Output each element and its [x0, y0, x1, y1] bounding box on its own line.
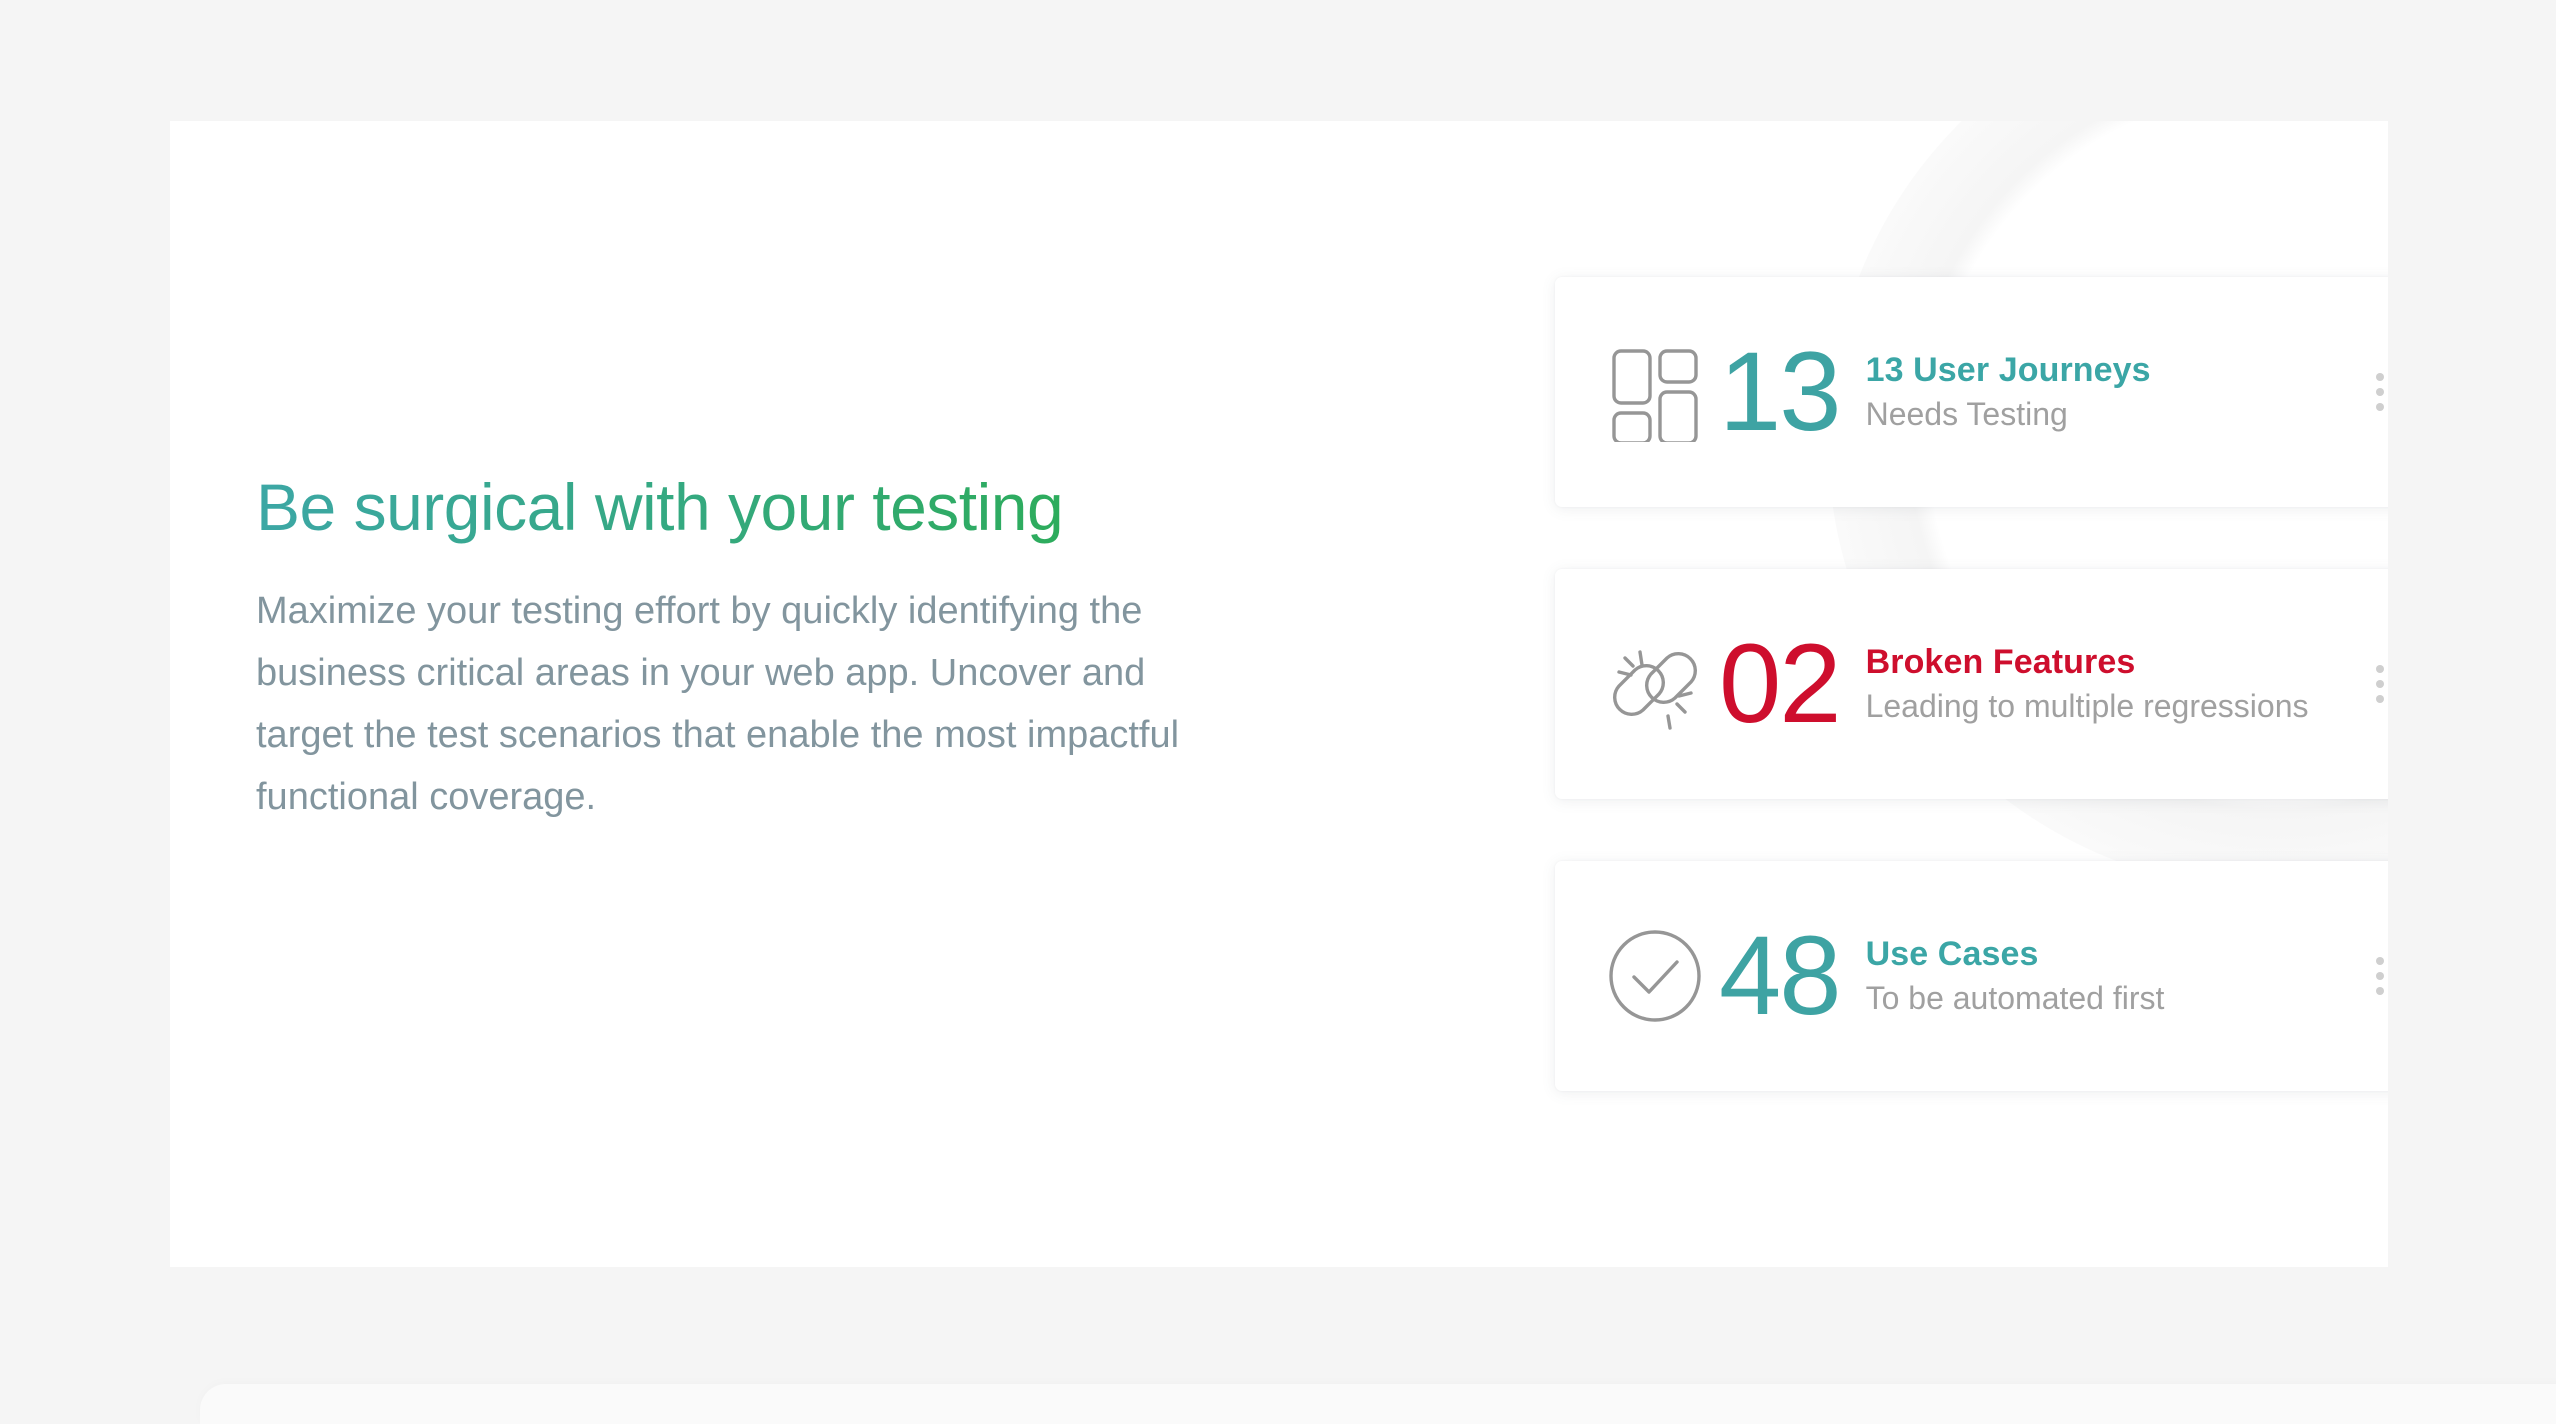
- drag-handle-icon[interactable]: [2375, 664, 2388, 704]
- drag-dot: [2376, 695, 2384, 703]
- check-circle-icon: [1601, 922, 1709, 1030]
- stat-card-subtitle: Leading to multiple regressions: [1866, 687, 2357, 726]
- stat-card-broken-features[interactable]: 02 Broken Features Leading to multiple r…: [1555, 569, 2388, 799]
- stat-card-title: 13 User Journeys: [1866, 350, 2357, 391]
- section-copy-column: Be surgical with your testing Maximize y…: [256, 471, 1216, 829]
- drag-dot: [2376, 373, 2384, 381]
- grid-layout-icon: [1601, 338, 1709, 446]
- stat-card-number: 48: [1719, 920, 1840, 1032]
- section-body-text: Maximize your testing effort by quickly …: [256, 581, 1186, 829]
- page-background: Be surgical with your testing Maximize y…: [0, 0, 2556, 1410]
- stat-card-title: Use Cases: [1866, 934, 2357, 975]
- drag-handle-icon[interactable]: [2375, 956, 2388, 996]
- drag-dot: [2376, 972, 2384, 980]
- stat-card-subtitle: Needs Testing: [1866, 395, 2357, 434]
- drag-dot: [2376, 987, 2384, 995]
- stat-card-text: Broken Features Leading to multiple regr…: [1866, 642, 2357, 727]
- section-headline: Be surgical with your testing: [256, 471, 1216, 545]
- stat-card-use-cases[interactable]: 48 Use Cases To be automated first: [1555, 861, 2388, 1091]
- stat-card-text: 13 User Journeys Needs Testing: [1866, 350, 2357, 435]
- stat-card-list: 13 13 User Journeys Needs Testing: [1555, 277, 2388, 1091]
- drag-dot: [2376, 403, 2384, 411]
- stat-card-number: 02: [1719, 628, 1840, 740]
- stat-card-text: Use Cases To be automated first: [1866, 934, 2357, 1019]
- drag-handle-icon[interactable]: [2375, 372, 2388, 412]
- feature-section-panel: Be surgical with your testing Maximize y…: [170, 121, 2388, 1267]
- broken-link-icon: [1601, 630, 1709, 738]
- drag-dot: [2376, 957, 2384, 965]
- stat-card-subtitle: To be automated first: [1866, 979, 2357, 1018]
- drag-dot: [2376, 665, 2384, 673]
- next-section-peek: [200, 1384, 2556, 1424]
- stat-card-title: Broken Features: [1866, 642, 2357, 683]
- drag-dot: [2376, 680, 2384, 688]
- drag-dot: [2376, 388, 2384, 396]
- stat-card-user-journeys[interactable]: 13 13 User Journeys Needs Testing: [1555, 277, 2388, 507]
- stat-card-number: 13: [1719, 336, 1840, 448]
